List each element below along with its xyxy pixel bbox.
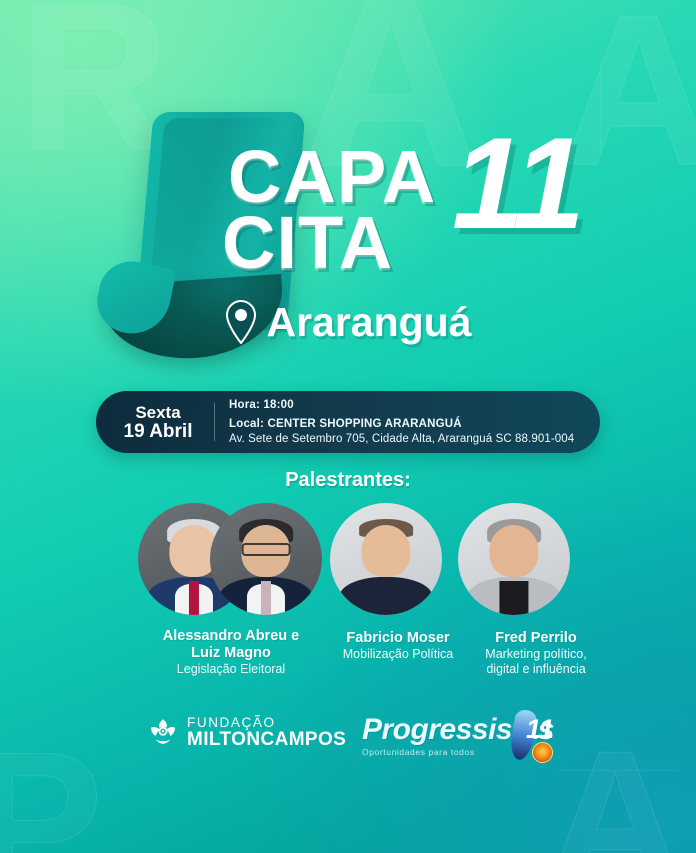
location-pin-icon bbox=[224, 300, 258, 344]
event-date-block: Sexta 19 Abril bbox=[96, 403, 214, 441]
speaker-entry: Fred Perrilo Marketing político, digital… bbox=[438, 630, 634, 677]
city-name: Araranguá bbox=[266, 300, 471, 344]
fundacao-line-2: MILTONCAMPOS bbox=[187, 730, 346, 749]
party-number: 11 bbox=[526, 716, 554, 743]
speaker-photos bbox=[0, 500, 696, 618]
event-address: Av. Sete de Setembro 705, Cidade Alta, A… bbox=[229, 432, 574, 447]
speaker-avatar bbox=[458, 503, 570, 615]
footer-logos: FUNDAÇÃO MILTONCAMPOS Progressistas Opor… bbox=[0, 706, 696, 768]
background-line bbox=[600, 60, 601, 150]
title-number: 11 bbox=[452, 118, 583, 248]
background-line bbox=[560, 770, 680, 771]
speaker-role: Marketing político, bbox=[438, 647, 634, 662]
speaker-avatar bbox=[210, 503, 322, 615]
speaker-names: Alessandro Abreu e Luiz Magno Legislação… bbox=[0, 628, 696, 690]
speaker-name: Fred Perrilo bbox=[438, 630, 634, 647]
fundacao-milton-campos-logo: FUNDAÇÃO MILTONCAMPOS bbox=[148, 716, 346, 749]
speaker-role: Legislação Eleitoral bbox=[118, 662, 344, 677]
event-info-bar: Sexta 19 Abril Hora: 18:00 Local: CENTER… bbox=[96, 391, 600, 453]
event-weekday: Sexta bbox=[102, 403, 214, 422]
event-details: Hora: 18:00 Local: CENTER SHOPPING ARARA… bbox=[215, 398, 574, 447]
event-poster: R A A P A CAPA CITA 11 Araranguá Sexta 1… bbox=[0, 0, 696, 853]
fundacao-line-1: FUNDAÇÃO bbox=[187, 716, 346, 730]
event-date: 19 Abril bbox=[102, 422, 214, 441]
speakers-heading: Palestrantes: bbox=[0, 469, 696, 492]
progressistas-number-mark: 11 bbox=[502, 710, 568, 766]
event-venue: Local: CENTER SHOPPING ARARANGUÁ bbox=[229, 417, 574, 432]
event-time: Hora: 18:00 bbox=[229, 398, 574, 413]
flower-emblem-icon bbox=[148, 717, 178, 747]
party-seal-icon bbox=[532, 742, 553, 763]
title-line-2: CITA bbox=[222, 206, 393, 280]
speaker-role: digital e influência bbox=[438, 662, 634, 677]
speaker-avatar bbox=[330, 503, 442, 615]
city-line: Araranguá bbox=[0, 300, 696, 349]
